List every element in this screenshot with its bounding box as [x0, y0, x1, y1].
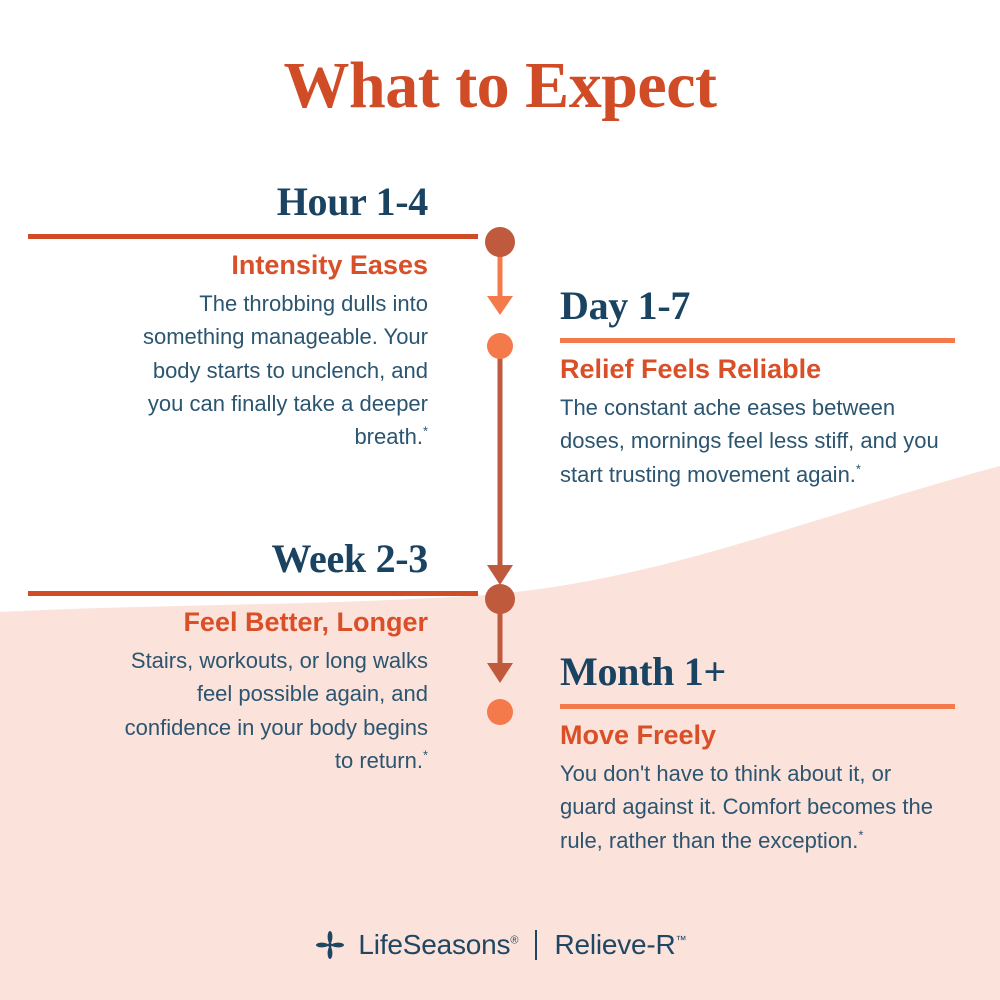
timeline-dot-3	[485, 584, 515, 614]
stage-body: The throbbing dulls into something manag…	[128, 287, 428, 454]
stage-period-label: Week 2-3	[28, 539, 428, 579]
connector-arrow-3	[487, 663, 513, 683]
stage-rule	[28, 234, 478, 239]
product-name: Relieve-R™	[554, 931, 686, 959]
registered-mark: ®	[510, 935, 518, 947]
timeline-dot-4	[487, 699, 513, 725]
timeline-stage-day-1-7: Day 1-7 Relief Feels Reliable The consta…	[560, 286, 980, 491]
stage-headline: Move Freely	[560, 721, 980, 751]
stage-footnote-marker: *	[856, 461, 861, 476]
stage-body-text: You don't have to think about it, or gua…	[560, 761, 933, 853]
footer-divider	[535, 930, 537, 960]
footer-brand-lockup: LifeSeasons® Relieve-R™	[0, 930, 1000, 960]
infographic-canvas: What to Expect Hour 1-4 Intensity Eases …	[0, 0, 1000, 1000]
lifeseasons-pinwheel-leaf-icon	[313, 930, 347, 960]
connector-arrow-2	[487, 565, 513, 585]
timeline-dot-1	[485, 227, 515, 257]
timeline-stage-month-1-plus: Month 1+ Move Freely You don't have to t…	[560, 652, 980, 857]
stage-period-label: Day 1-7	[560, 286, 980, 326]
stage-body-text: The throbbing dulls into something manag…	[143, 291, 428, 450]
stage-rule	[560, 338, 955, 343]
stage-body: Stairs, workouts, or long walks feel pos…	[108, 644, 428, 778]
stage-rule	[560, 704, 955, 709]
brand-name-text: LifeSeasons	[358, 929, 510, 960]
connector-arrow-1	[487, 296, 513, 315]
brand-name: LifeSeasons®	[358, 931, 518, 959]
timeline-stage-hour-1-4: Hour 1-4 Intensity Eases The throbbing d…	[28, 182, 428, 454]
stage-body: The constant ache eases between doses, m…	[560, 391, 950, 491]
stage-period-label: Hour 1-4	[28, 182, 428, 222]
stage-footnote-marker: *	[858, 827, 863, 842]
product-name-text: Relieve-R	[554, 929, 675, 960]
stage-headline: Intensity Eases	[28, 251, 428, 281]
stage-body-text: The constant ache eases between doses, m…	[560, 395, 939, 487]
timeline-dot-2	[487, 333, 513, 359]
stage-body-text: Stairs, workouts, or long walks feel pos…	[125, 648, 428, 773]
timeline-stage-week-2-3: Week 2-3 Feel Better, Longer Stairs, wor…	[28, 539, 428, 777]
stage-footnote-marker: *	[423, 424, 428, 439]
stage-rule	[28, 591, 478, 596]
stage-footnote-marker: *	[423, 748, 428, 763]
trademark-mark: ™	[676, 935, 687, 947]
page-title: What to Expect	[0, 48, 1000, 124]
stage-headline: Feel Better, Longer	[28, 608, 428, 638]
stage-body: You don't have to think about it, or gua…	[560, 757, 950, 857]
stage-period-label: Month 1+	[560, 652, 980, 692]
stage-headline: Relief Feels Reliable	[560, 355, 980, 385]
